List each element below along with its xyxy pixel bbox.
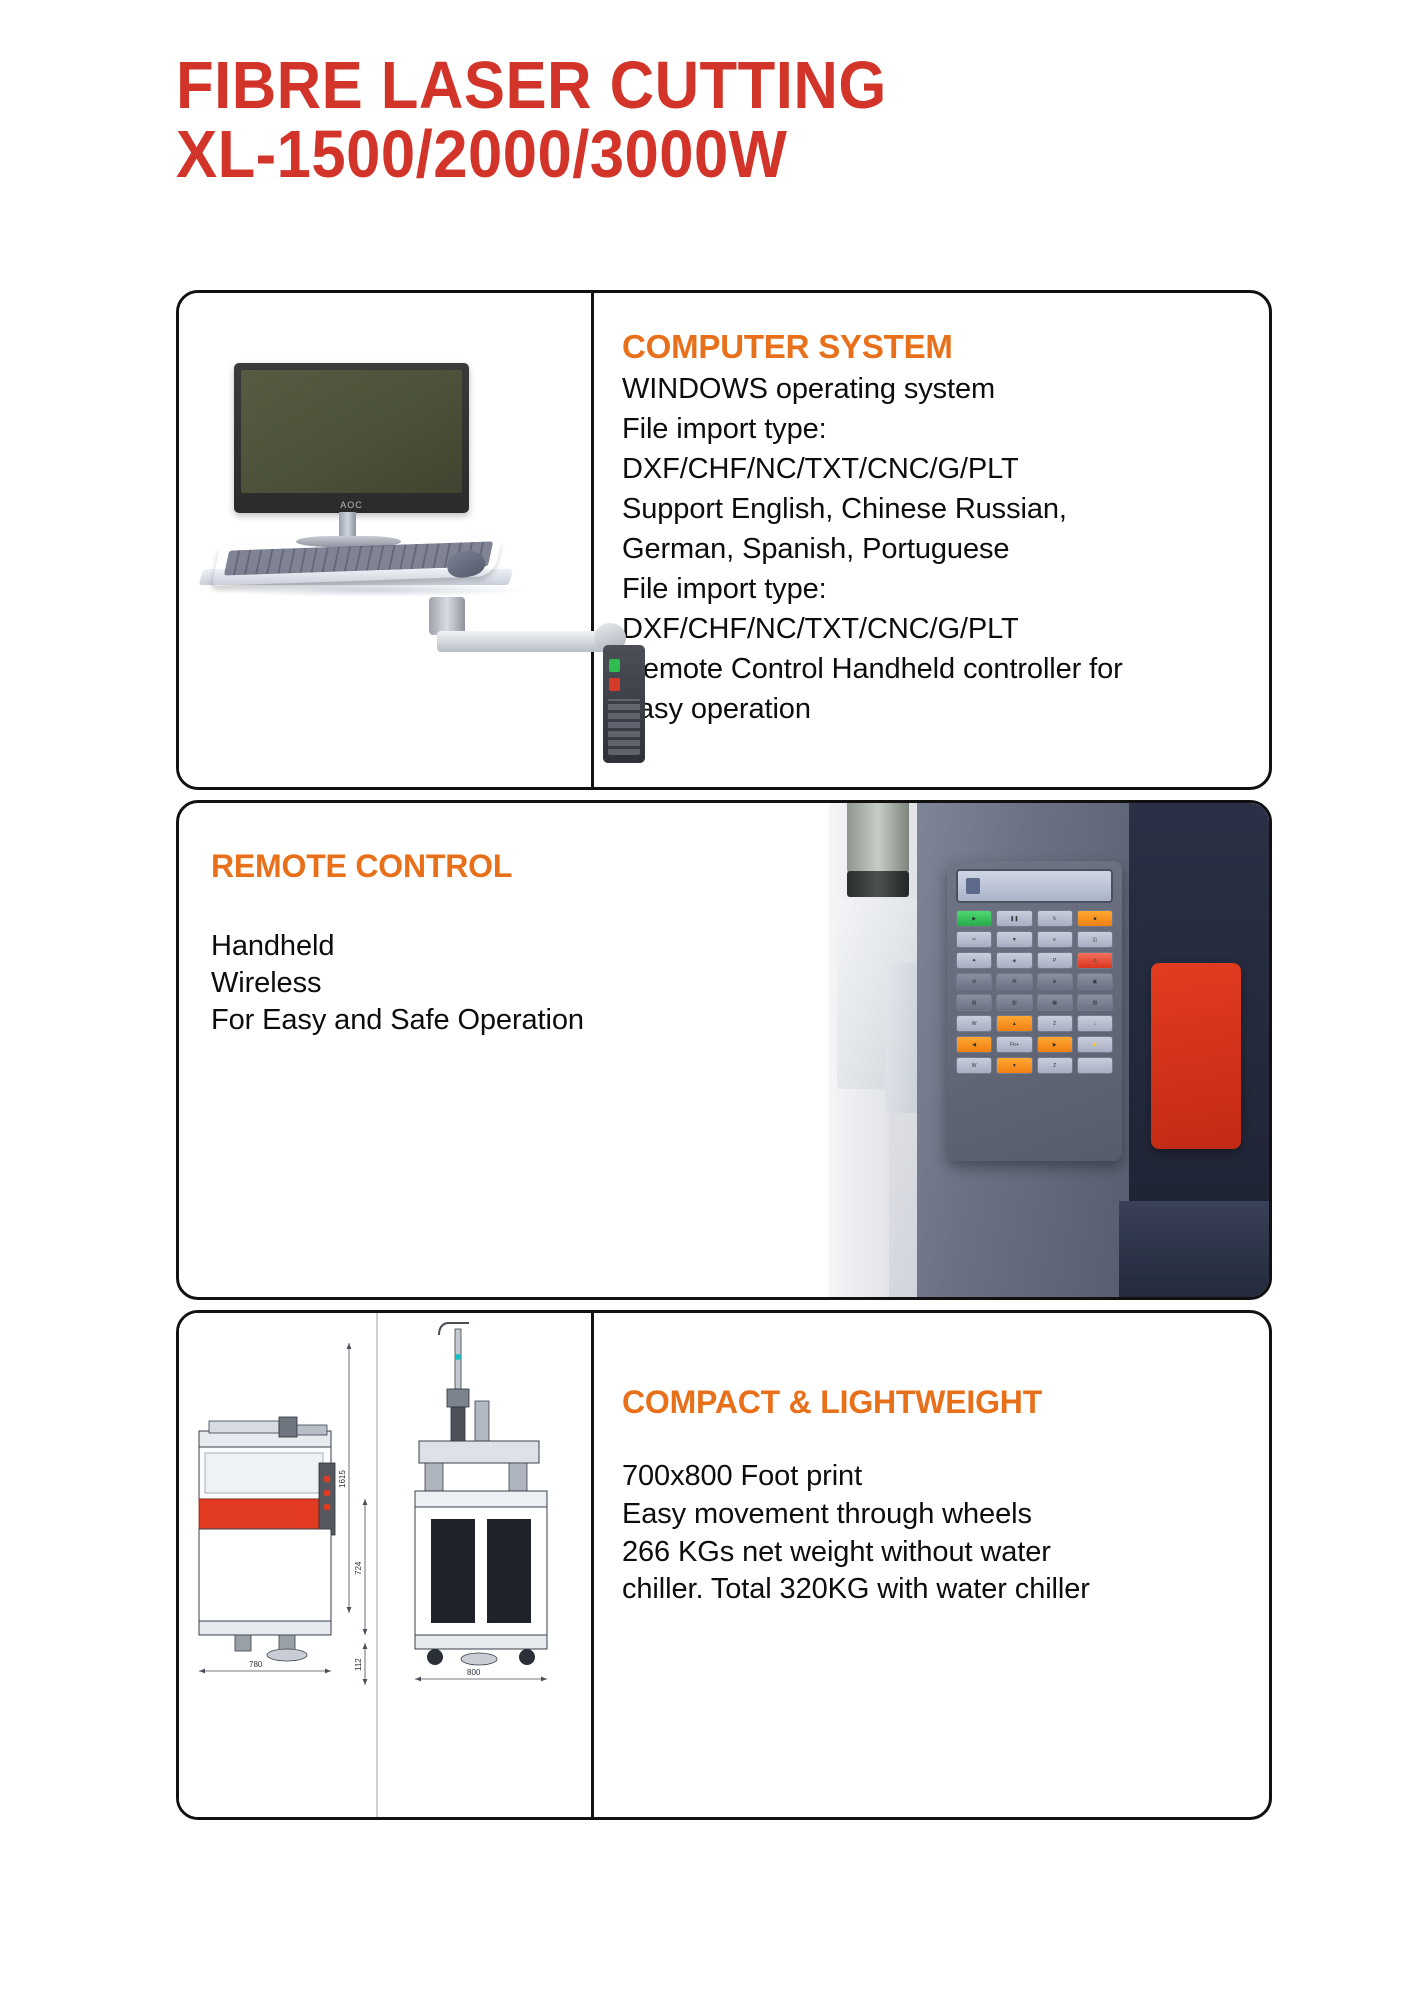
- pendant-controller-icon: [603, 645, 645, 763]
- card-computer-system: AOC COMPUTER SYSTEM WINDOW: [176, 290, 1272, 790]
- keypad-key-settings: ⚙: [956, 973, 992, 990]
- card-remote-control: REMOTE CONTROL Handheld Wireless For Eas…: [176, 800, 1272, 1300]
- body-line: 700x800 Foot print: [622, 1458, 1245, 1496]
- dim-low: 112: [354, 1658, 363, 1671]
- keypad-key-play: ▶: [956, 910, 992, 927]
- title-line-1: FIBRE LASER CUTTING: [176, 55, 1188, 117]
- keypad-key-arrow-up: ▲: [996, 1015, 1032, 1032]
- dim-width-right: 800: [467, 1668, 481, 1677]
- keypad-key-arrow-right: ▶: [1037, 1036, 1073, 1053]
- cylinder-collar: [847, 871, 909, 897]
- page-title: FIBRE LASER CUTTING XL-1500/2000/3000W: [176, 55, 1276, 185]
- keypad-key-z-up: Z: [1037, 1015, 1073, 1032]
- compact-lightweight-text: COMPACT & LIGHTWEIGHT 700x800 Foot print…: [594, 1313, 1269, 1817]
- cylinder-part: [847, 803, 909, 875]
- body-line: File import type:: [622, 409, 1243, 449]
- keypad-key-blank: [1077, 1057, 1113, 1074]
- keypad-key-w-up: W: [956, 1015, 992, 1032]
- body-line: chiller. Total 320KG with water chiller: [622, 1571, 1245, 1609]
- keypad-key-updown: ↕: [1077, 1015, 1113, 1032]
- keypad-key-menu: ≡: [1037, 931, 1073, 948]
- remote-control-text: REMOTE CONTROL Handheld Wireless For Eas…: [179, 803, 829, 1297]
- emergency-stop-panel: [1151, 963, 1241, 1149]
- keypad-screen: [956, 869, 1113, 903]
- body-line: 266 KGs net weight without water: [622, 1534, 1245, 1572]
- body-line: German, Spanish, Portuguese: [622, 529, 1243, 569]
- monitor-neck: [339, 512, 356, 538]
- keypad-key-z-down: Z: [1037, 1057, 1073, 1074]
- body-line: DXF/CHF/NC/TXT/CNC/G/PLT: [622, 609, 1243, 649]
- keypad-key-laser: ✷: [956, 952, 992, 969]
- body-line: WINDOWS operating system: [622, 369, 1243, 409]
- arm-post: [429, 597, 465, 635]
- card-heading: COMPACT & LIGHTWEIGHT: [622, 1385, 1245, 1420]
- keypad-rows: ▶ ❚❚ ↻ ■ ✂ ▼ ≡ ◫: [956, 910, 1113, 1074]
- body-line: Remote Control Handheld controller for: [622, 649, 1243, 689]
- keypad-key-pause: ❚❚: [996, 910, 1032, 927]
- keypad-key-square: ▣: [1077, 973, 1113, 990]
- monitor-icon: AOC: [234, 363, 469, 513]
- monitor-screen: [241, 370, 462, 493]
- dimension-drawing-image: 780 1615 724 112: [179, 1313, 594, 1817]
- keypad-key-frame: ◫: [1077, 931, 1113, 948]
- dim-mid: 724: [354, 1561, 363, 1575]
- keypad-key-fn: Fn+: [996, 1036, 1032, 1053]
- keypad-key-p: P: [1037, 952, 1073, 969]
- poster-page: FIBRE LASER CUTTING XL-1500/2000/3000W A…: [0, 0, 1414, 2000]
- keypad-key-cn2: ▥: [996, 994, 1032, 1011]
- monitor-brand-label: AOC: [340, 500, 363, 510]
- desk-shadow: [209, 583, 529, 597]
- keypad-key-arrow-left: ◀: [956, 1036, 992, 1053]
- card-heading: REMOTE CONTROL: [211, 849, 809, 884]
- keypad-key-cn3: ▦: [1037, 994, 1073, 1011]
- remote-control-image: ▶ ❚❚ ↻ ■ ✂ ▼ ≡ ◫: [829, 803, 1269, 1297]
- arm-bar: [437, 631, 612, 652]
- technical-drawing-svg: 780 1615 724 112: [179, 1313, 591, 1817]
- keypad-key-function: ⌘: [996, 973, 1032, 990]
- title-line-2: XL-1500/2000/3000W: [176, 124, 1188, 186]
- body-line: File import type:: [622, 569, 1243, 609]
- keypad-key-cn1: ▤: [956, 994, 992, 1011]
- card-compact-lightweight: 780 1615 724 112: [176, 1310, 1272, 1820]
- body-line: Easy movement through wheels: [622, 1496, 1245, 1534]
- keypad-key-cn4: ▧: [1077, 994, 1113, 1011]
- keypad-key-stop: ■: [1077, 910, 1113, 927]
- body-line: Wireless: [211, 965, 809, 1002]
- body-line: DXF/CHF/NC/TXT/CNC/G/PLT: [622, 449, 1243, 489]
- dim-width-left: 780: [249, 1660, 263, 1669]
- keypad-key-node: ◈: [996, 952, 1032, 969]
- handheld-keypad: ▶ ❚❚ ↻ ■ ✂ ▼ ≡ ◫: [947, 861, 1122, 1161]
- keypad-key-w-down: W: [956, 1057, 992, 1074]
- keypad-key-alarm: ⚠: [1077, 952, 1113, 969]
- keypad-key-arrow-down: ▼: [996, 1057, 1032, 1074]
- computer-system-image: AOC: [179, 293, 594, 787]
- body-line: easy operation: [622, 689, 1243, 729]
- body-line: For Easy and Safe Operation: [211, 1002, 809, 1039]
- computer-system-text: COMPUTER SYSTEM WINDOWS operating system…: [594, 293, 1269, 787]
- keypad-key-reset: ↻: [1037, 910, 1073, 927]
- keypad-key-down: ▼: [996, 931, 1032, 948]
- body-line: Support English, Chinese Russian,: [622, 489, 1243, 529]
- card-heading: COMPUTER SYSTEM: [622, 329, 1243, 365]
- dim-height: 1615: [338, 1470, 347, 1488]
- keypad-key-cut: ✂: [956, 931, 992, 948]
- keypad-key-power: ⚡: [1077, 1036, 1113, 1053]
- body-line: Handheld: [211, 928, 809, 965]
- keypad-key-origin: ⊕: [1037, 973, 1073, 990]
- machine-lower-panel: [1119, 1201, 1269, 1297]
